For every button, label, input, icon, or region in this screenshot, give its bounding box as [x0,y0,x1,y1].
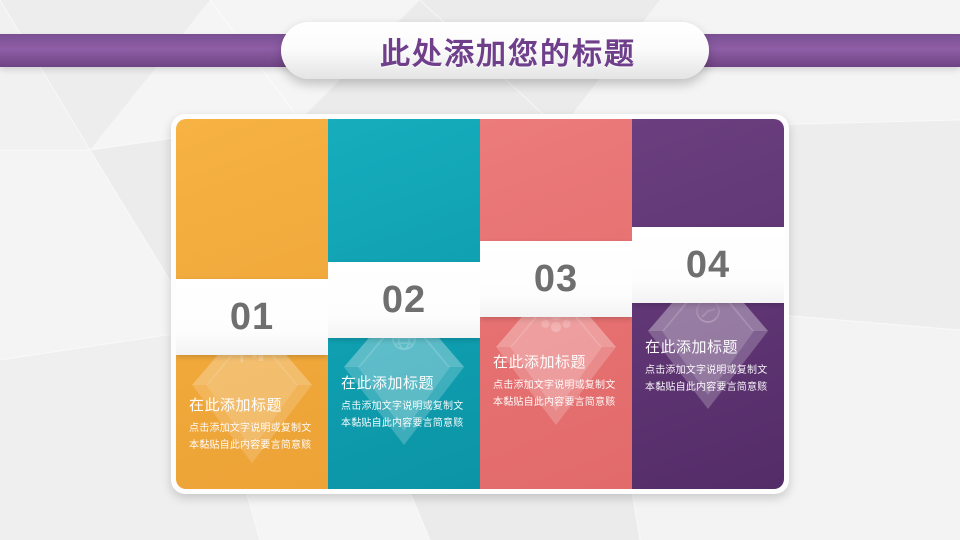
column-03[interactable]: 03 在此添加标题 点击添加文字说明或复制文本黏贴自此内容要言简意赅 [480,119,632,489]
column-body: 点击添加文字说明或复制文本黏贴自此内容要言简意赅 [493,378,621,411]
column-body: 点击添加文字说明或复制文本黏贴自此内容要言简意赅 [645,363,773,396]
number-band-01: 01 [176,279,328,355]
column-heading: 在此添加标题 [341,375,469,393]
number-band-03: 03 [480,241,632,317]
column-heading: 在此添加标题 [493,354,621,372]
column-number: 02 [382,279,426,322]
four-column-infographic: 01 在此添加标题 点击添加文字说明或复制文本黏贴自此内容要言简意赅 [176,119,784,489]
column-heading: 在此添加标题 [189,397,317,415]
column-02-text: 在此添加标题 点击添加文字说明或复制文本黏贴自此内容要言简意赅 [341,375,469,432]
column-04-text: 在此添加标题 点击添加文字说明或复制文本黏贴自此内容要言简意赅 [645,339,773,396]
column-03-text: 在此添加标题 点击添加文字说明或复制文本黏贴自此内容要言简意赅 [493,354,621,411]
page-title: 此处添加您的标题 [354,29,636,73]
column-heading: 在此添加标题 [645,339,773,357]
column-body: 点击添加文字说明或复制文本黏贴自此内容要言简意赅 [341,399,469,432]
number-band-02: 02 [328,262,480,338]
number-band-04: 04 [632,227,784,303]
title-pill: 此处添加您的标题 [281,22,709,79]
column-number: 03 [534,258,578,301]
column-04[interactable]: 04 在此添加标题 点击添加文字说明或复制文本黏贴自此内容要言简意赅 [632,119,784,489]
column-number: 01 [230,296,274,339]
column-number: 04 [686,244,730,287]
column-02[interactable]: 02 在此添加标题 点击添加文字说明或复制文本黏贴自此内容要言简意赅 [328,119,480,489]
column-body: 点击添加文字说明或复制文本黏贴自此内容要言简意赅 [189,421,317,454]
column-01-text: 在此添加标题 点击添加文字说明或复制文本黏贴自此内容要言简意赅 [189,397,317,454]
column-01[interactable]: 01 在此添加标题 点击添加文字说明或复制文本黏贴自此内容要言简意赅 [176,119,328,489]
